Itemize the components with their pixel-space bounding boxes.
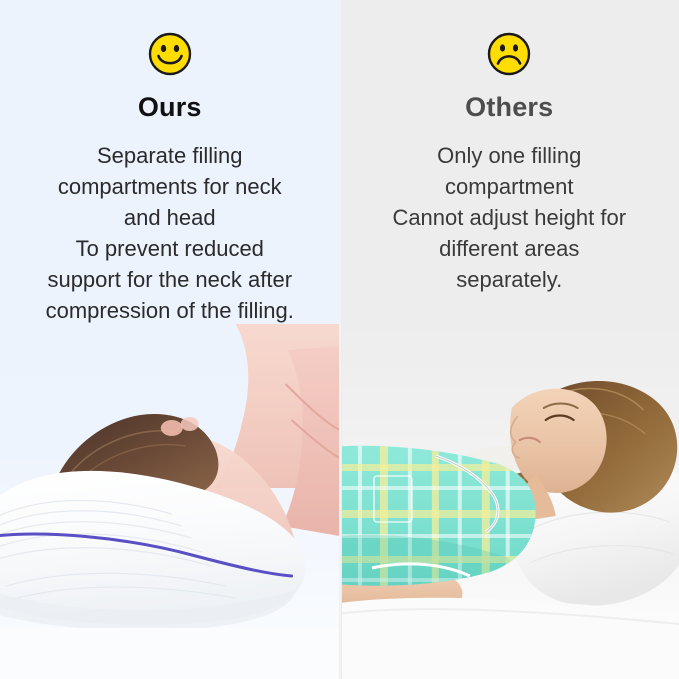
photo-others-illustration — [340, 324, 679, 679]
panel-others: Others Only one filling compartment Cann… — [340, 0, 679, 679]
panel-ours: Ours Separate filling compartments for n… — [0, 0, 340, 679]
smiley-face-icon — [148, 32, 192, 76]
others-text-block: Others Only one filling compartment Cann… — [340, 0, 679, 295]
panel-body-others: Only one filling compartment Cannot adju… — [354, 140, 666, 295]
ours-text-block: Ours Separate filling compartments for n… — [0, 0, 340, 326]
comparison-infographic: Ours Separate filling compartments for n… — [0, 0, 679, 679]
panel-body-ours: Separate filling compartments for neck a… — [14, 140, 326, 326]
panel-heading-others: Others — [354, 94, 666, 121]
vertical-divider — [339, 0, 342, 679]
sad-face-icon — [487, 32, 531, 76]
photo-ours-illustration — [0, 324, 340, 679]
photo-woman-on-contoured-pillow — [0, 324, 340, 679]
panel-heading-ours: Ours — [14, 94, 326, 121]
photo-woman-on-ordinary-pillow — [340, 324, 679, 679]
